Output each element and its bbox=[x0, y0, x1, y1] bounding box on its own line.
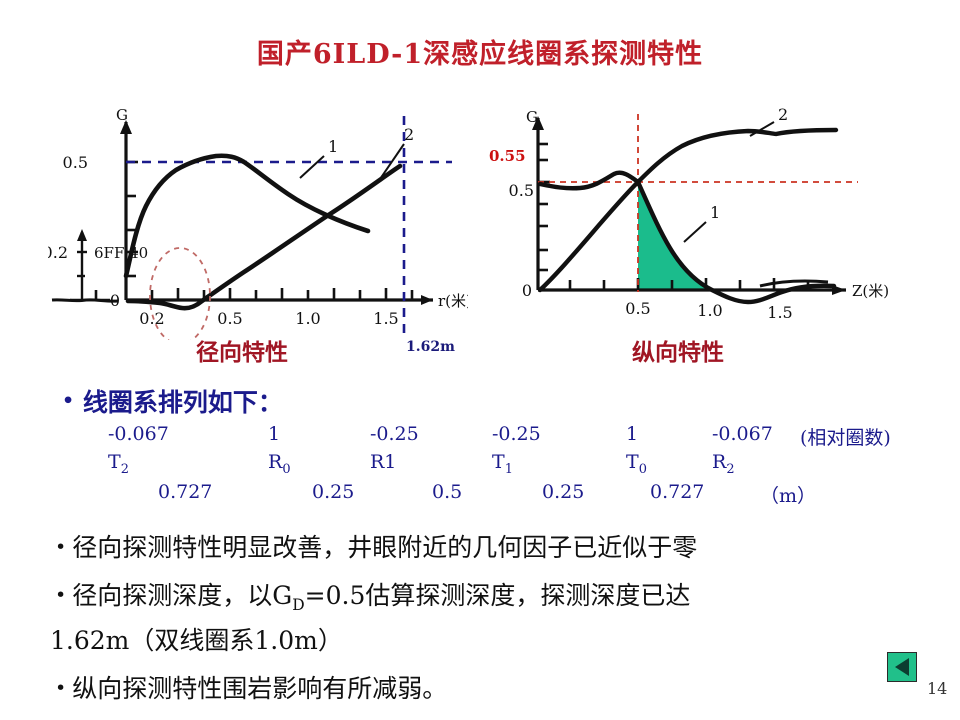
bullet-dot-icon-2: • bbox=[55, 536, 66, 558]
coil-turns-row: -0.067 1 -0.25 -0.25 1 -0.067 (相对圈数) bbox=[0, 423, 960, 451]
coil-array-intro: • 线圈系排列如下： bbox=[62, 383, 283, 419]
coil-name-T0: T0 bbox=[626, 451, 647, 477]
coil-spacing-4: 0.25 bbox=[542, 481, 584, 503]
coil-sub-R2: 2 bbox=[726, 462, 734, 477]
coil-sub-R0: 0 bbox=[282, 462, 290, 477]
coil-sub-T1: 1 bbox=[505, 462, 513, 477]
radial-x-axis-label: r(米) bbox=[438, 292, 468, 310]
page-number: 14 bbox=[927, 679, 947, 698]
vertical-xtick-10: 1.0 bbox=[697, 301, 722, 320]
radial-curve-label-1: 1 bbox=[328, 137, 338, 156]
radial-x-arrow bbox=[421, 295, 433, 305]
coil-array-table: -0.067 1 -0.25 -0.25 1 -0.067 (相对圈数) T2 … bbox=[0, 423, 960, 509]
coil-turn-5: 1 bbox=[626, 423, 638, 445]
coil-name-R0: R0 bbox=[268, 451, 291, 477]
bullet-item-vertical: •纵向探测特性围岩影响有所减弱。 bbox=[55, 669, 955, 705]
vertical-shaded-region bbox=[638, 182, 708, 290]
vertical-leader-1 bbox=[684, 222, 706, 242]
page-title: 国产6ILD-1深感应线圈系探测特性 bbox=[0, 32, 960, 71]
radial-baseline-noise bbox=[52, 300, 118, 301]
radial-curve-2 bbox=[128, 166, 400, 308]
coil-turn-1: -0.067 bbox=[108, 423, 169, 445]
vertical-y-ticks bbox=[538, 144, 550, 270]
back-button[interactable] bbox=[887, 652, 917, 682]
radial-characteristic-chart: G 0.5 0.2 0 6FF 40 0.2 0.5 1.0 1.5 r(米) … bbox=[48, 100, 468, 340]
coil-name-R2: R2 bbox=[712, 451, 735, 477]
radial-secondary-label: 6FF 40 bbox=[94, 244, 148, 262]
coil-array-intro-text: 线圈系排列如下： bbox=[83, 388, 283, 417]
coil-spacing-unit: （m） bbox=[760, 481, 816, 508]
radial-secondary-arrow bbox=[77, 229, 87, 241]
coil-spacing-row: 0.727 0.25 0.5 0.25 0.727 （m） bbox=[0, 481, 960, 509]
vertical-chart-svg: G 0.5 0 0.5 1.0 1.5 Z(米) 1 2 bbox=[498, 100, 898, 330]
radial-chart-svg: G 0.5 0.2 0 6FF 40 0.2 0.5 1.0 1.5 r(米) … bbox=[48, 100, 468, 340]
slide-canvas: 国产6ILD-1深感应线圈系探测特性 bbox=[0, 0, 960, 720]
radial-x-ticks bbox=[96, 288, 412, 300]
coil-name-R1: R1 bbox=[370, 451, 396, 473]
coil-spacing-1: 0.727 bbox=[158, 481, 212, 503]
coil-name-T1: T1 bbox=[492, 451, 513, 477]
coil-turn-6: -0.067 bbox=[712, 423, 773, 445]
vertical-curve-label-1: 1 bbox=[710, 203, 720, 222]
radial-depth-annotation: 1.62m bbox=[406, 339, 455, 355]
vertical-curve-2 bbox=[540, 130, 836, 188]
bullet-item-depth: •径向探测深度，以GD=0.5估算探测深度，探测深度已达 bbox=[55, 576, 955, 614]
vertical-xtick-15: 1.5 bbox=[767, 303, 792, 322]
bullet-dot-icon-3: • bbox=[55, 584, 66, 606]
vertical-x-axis-label: Z(米) bbox=[852, 282, 889, 300]
radial-ytick-0: 0 bbox=[110, 291, 120, 310]
vertical-characteristic-chart: G 0.5 0 0.5 1.0 1.5 Z(米) 1 2 bbox=[498, 100, 898, 330]
bullet-dot-icon: • bbox=[62, 390, 74, 412]
bullet-text-depth-sub: D bbox=[292, 596, 304, 614]
radial-ytick-02: 0.2 bbox=[48, 243, 68, 262]
radial-secondary-axis bbox=[70, 232, 110, 300]
bullet-depth-line2: 1.62m（双线圈系1.0m） bbox=[50, 621, 950, 657]
vertical-highlight-value: 0.55 bbox=[489, 147, 526, 165]
radial-xtick-15: 1.5 bbox=[373, 309, 398, 328]
coil-name-T2: T2 bbox=[108, 451, 129, 477]
coil-spacing-2: 0.25 bbox=[312, 481, 354, 503]
coil-spacing-3: 0.5 bbox=[432, 481, 462, 503]
bullet-text-depth-b: =0.5估算探测深度，探测深度已达 bbox=[305, 581, 691, 610]
vertical-chart-caption: 纵向特性 bbox=[632, 333, 724, 367]
coil-spacing-5: 0.727 bbox=[650, 481, 704, 503]
radial-xtick-10: 1.0 bbox=[295, 309, 320, 328]
coil-sub-T2: 2 bbox=[121, 462, 129, 477]
coil-turn-4: -0.25 bbox=[492, 423, 541, 445]
coil-turns-unit: (相对圈数) bbox=[800, 423, 891, 450]
back-triangle-icon bbox=[895, 658, 909, 676]
coil-sub-T0: 0 bbox=[639, 462, 647, 477]
radial-chart-caption: 径向特性 bbox=[196, 333, 288, 367]
vertical-curve-label-2: 2 bbox=[778, 105, 788, 124]
bullet-text-depth-a: 径向探测深度，以G bbox=[72, 581, 292, 610]
vertical-xtick-05: 0.5 bbox=[625, 299, 650, 318]
bullet-text-vertical: 纵向探测特性围岩影响有所减弱。 bbox=[72, 674, 447, 703]
coil-names-row: T2 R0 R1 T1 T0 R2 bbox=[0, 451, 960, 481]
radial-xtick-02: 0.2 bbox=[139, 309, 164, 328]
vertical-ytick-0: 0 bbox=[522, 281, 532, 300]
bullet-text-radial-improvement: 径向探测特性明显改善，井眼附近的几何因子已近似于零 bbox=[72, 533, 697, 562]
bullet-item-radial-improvement: •径向探测特性明显改善，井眼附近的几何因子已近似于零 bbox=[55, 528, 955, 564]
coil-turn-3: -0.25 bbox=[370, 423, 419, 445]
radial-curve-label-2: 2 bbox=[404, 125, 414, 144]
bullet-dot-icon-4: • bbox=[55, 677, 66, 699]
radial-leader-1 bbox=[300, 156, 324, 178]
radial-ytick-05: 0.5 bbox=[63, 153, 88, 172]
radial-axes bbox=[126, 122, 433, 300]
radial-y-axis-label: G bbox=[116, 106, 128, 124]
coil-turn-2: 1 bbox=[268, 423, 280, 445]
bullet-text-depth-line2: 1.62m（双线圈系1.0m） bbox=[50, 626, 343, 655]
vertical-y-axis-label: G bbox=[526, 108, 538, 126]
vertical-ytick-05: 0.5 bbox=[509, 181, 534, 200]
radial-xtick-05: 0.5 bbox=[217, 309, 242, 328]
